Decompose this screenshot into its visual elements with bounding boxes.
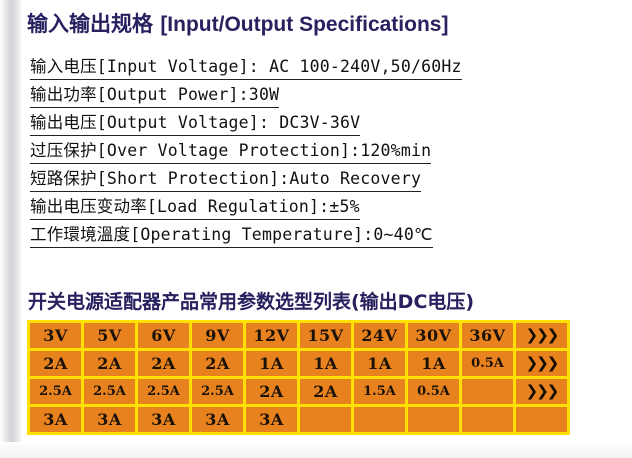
table-cell: 36V bbox=[462, 323, 513, 348]
table-cell-empty bbox=[462, 407, 513, 432]
page-title-en: [Input/Output Specifications] bbox=[160, 13, 448, 36]
table-row: 2A 2A 2A 2A 1A 1A 1A 1A 0.5A ❯❯❯ bbox=[30, 351, 567, 376]
table-cell: 2A bbox=[300, 379, 351, 404]
spec-line-text: 短路保护[Short Protection]:Auto Recovery bbox=[30, 168, 421, 192]
table-cell: 1A bbox=[246, 351, 297, 376]
specification-list: 输入电压[Input Voltage]: AC 100-240V,50/60Hz… bbox=[30, 56, 620, 252]
table-cell-empty bbox=[408, 407, 459, 432]
table-cell: 6V bbox=[138, 323, 189, 348]
table-cell: 5V bbox=[84, 323, 135, 348]
spec-line-text: 工作環境溫度[Operating Temperature]:0~40℃ bbox=[30, 224, 433, 248]
table-cell: 3V bbox=[30, 323, 81, 348]
spec-line-text: 输出功率[Output Power]:30W bbox=[30, 84, 279, 108]
spec-line: 过压保护[Over Voltage Protection]:120%min bbox=[30, 140, 620, 168]
table-cell: 3A bbox=[246, 407, 297, 432]
table-cell: 2A bbox=[84, 351, 135, 376]
table-cell: 2A bbox=[246, 379, 297, 404]
page-title-zh: 输入输出规格 bbox=[27, 12, 153, 36]
left-edge-gradient bbox=[0, 0, 22, 458]
table-cell: 1A bbox=[300, 351, 351, 376]
table-cell-empty bbox=[354, 407, 405, 432]
spec-line-text: 过压保护[Over Voltage Protection]:120%min bbox=[30, 140, 431, 164]
spec-sheet-page: 输入输出规格 [Input/Output Specifications] 输入电… bbox=[0, 0, 632, 458]
spec-line: 输出电压[Output Voltage]: DC3V-36V bbox=[30, 112, 620, 140]
table-cell: 2.5A bbox=[30, 379, 81, 404]
table-cell: 2A bbox=[192, 351, 243, 376]
table-cell: 3A bbox=[138, 407, 189, 432]
table-cell: 3A bbox=[192, 407, 243, 432]
table-cell-empty bbox=[300, 407, 351, 432]
parameter-selection-table: 3V 5V 6V 9V 12V 15V 24V 30V 36V ❯❯❯ 2A 2… bbox=[27, 320, 570, 435]
table-cell: 3A bbox=[30, 407, 81, 432]
table-cell: 12V bbox=[246, 323, 297, 348]
table-cell: 3A bbox=[84, 407, 135, 432]
table-cell: 9V bbox=[192, 323, 243, 348]
chevron-right-icon: ❯❯❯ bbox=[516, 379, 567, 404]
chevron-right-icon: ❯❯❯ bbox=[516, 323, 567, 348]
spec-line-text: 输出电压变动率[Load Regulation]:±5% bbox=[30, 196, 360, 220]
table-row: 3A 3A 3A 3A 3A bbox=[30, 407, 567, 432]
spec-line: 输出功率[Output Power]:30W bbox=[30, 84, 620, 112]
spec-line-text: 输入电压[Input Voltage]: AC 100-240V,50/60Hz bbox=[30, 56, 462, 80]
spec-line: 短路保护[Short Protection]:Auto Recovery bbox=[30, 168, 620, 196]
page-title: 输入输出规格 [Input/Output Specifications] bbox=[27, 8, 448, 38]
table-cell: 2A bbox=[138, 351, 189, 376]
bottom-edge-gradient bbox=[0, 442, 632, 458]
table-cell: 2.5A bbox=[84, 379, 135, 404]
table-cell: 2A bbox=[30, 351, 81, 376]
chevron-right-icon: ❯❯❯ bbox=[516, 351, 567, 376]
table-cell: 30V bbox=[408, 323, 459, 348]
table-cell: 15V bbox=[300, 323, 351, 348]
table-row: 3V 5V 6V 9V 12V 15V 24V 30V 36V ❯❯❯ bbox=[30, 323, 567, 348]
table-row: 2.5A 2.5A 2.5A 2.5A 2A 2A 1.5A 0.5A ❯❯❯ bbox=[30, 379, 567, 404]
table-cell-empty bbox=[462, 379, 513, 404]
table-cell: 1A bbox=[354, 351, 405, 376]
spec-line: 输出电压变动率[Load Regulation]:±5% bbox=[30, 196, 620, 224]
table-cell: 2.5A bbox=[192, 379, 243, 404]
table-cell: 2.5A bbox=[138, 379, 189, 404]
table-cell: 0.5A bbox=[462, 351, 513, 376]
table-cell: 1A bbox=[408, 351, 459, 376]
table-cell: 0.5A bbox=[408, 379, 459, 404]
parameter-table-heading: 开关电源适配器产品常用参数选型列表(输出DC电压) bbox=[28, 287, 474, 314]
table-cell-empty bbox=[516, 407, 567, 432]
spec-line-text: 输出电压[Output Voltage]: DC3V-36V bbox=[30, 112, 360, 136]
table-cell: 1.5A bbox=[354, 379, 405, 404]
table-cell: 24V bbox=[354, 323, 405, 348]
spec-line: 输入电压[Input Voltage]: AC 100-240V,50/60Hz bbox=[30, 56, 620, 84]
spec-line: 工作環境溫度[Operating Temperature]:0~40℃ bbox=[30, 224, 620, 252]
